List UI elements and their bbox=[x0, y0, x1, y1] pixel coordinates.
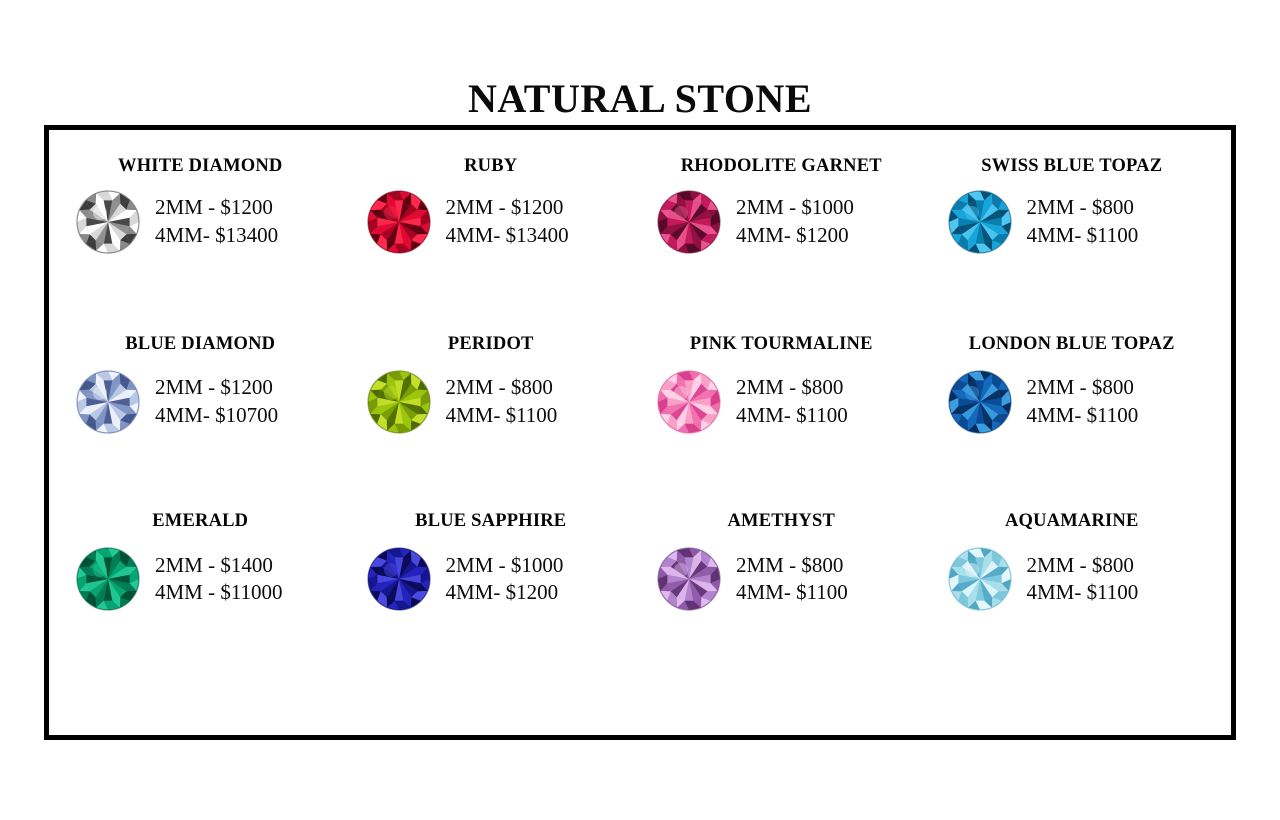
stone-body: 2MM - $8004MM- $1100 bbox=[947, 369, 1222, 435]
stone-price-block: 2MM - $14004MM - $11000 bbox=[155, 552, 283, 607]
stone-card[interactable]: RHODOLITE GARNET2MM - $10004MM- $1200 bbox=[640, 156, 931, 334]
price-4mm: 4MM- $1100 bbox=[1027, 402, 1139, 430]
round-brilliant-gem-icon bbox=[75, 369, 141, 435]
stone-card[interactable]: SWISS BLUE TOPAZ2MM - $8004MM- $1100 bbox=[931, 156, 1222, 334]
stone-name: PERIDOT bbox=[366, 334, 641, 355]
price-2mm: 2MM - $1000 bbox=[736, 194, 854, 222]
stone-price-block: 2MM - $12004MM- $13400 bbox=[446, 194, 569, 249]
price-2mm: 2MM - $1200 bbox=[446, 194, 569, 222]
stone-price-block: 2MM - $8004MM- $1100 bbox=[1027, 194, 1139, 249]
stone-name: BLUE SAPPHIRE bbox=[366, 511, 641, 532]
round-brilliant-gem-icon bbox=[947, 189, 1013, 255]
stone-price-block: 2MM - $8004MM- $1100 bbox=[736, 552, 848, 607]
stone-grid: WHITE DIAMOND2MM - $12004MM- $13400RUBY2… bbox=[49, 130, 1231, 735]
page-title: NATURAL STONE bbox=[0, 75, 1280, 122]
stone-card[interactable]: AQUAMARINE2MM - $8004MM- $1100 bbox=[931, 511, 1222, 689]
price-4mm: 4MM- $1100 bbox=[1027, 579, 1139, 607]
price-2mm: 2MM - $800 bbox=[1027, 374, 1139, 402]
round-brilliant-gem-icon bbox=[656, 189, 722, 255]
stone-card[interactable]: RUBY2MM - $12004MM- $13400 bbox=[350, 156, 641, 334]
round-brilliant-gem-icon bbox=[366, 189, 432, 255]
price-2mm: 2MM - $1400 bbox=[155, 552, 283, 580]
stone-name: EMERALD bbox=[75, 511, 350, 532]
price-2mm: 2MM - $800 bbox=[736, 552, 848, 580]
stone-name: AQUAMARINE bbox=[947, 511, 1222, 532]
price-2mm: 2MM - $1200 bbox=[155, 194, 278, 222]
stone-body: 2MM - $12004MM- $10700 bbox=[75, 369, 350, 435]
stone-name: WHITE DIAMOND bbox=[75, 156, 350, 177]
price-2mm: 2MM - $800 bbox=[446, 374, 558, 402]
price-4mm: 4MM- $10700 bbox=[155, 402, 278, 430]
price-4mm: 4MM- $13400 bbox=[155, 222, 278, 250]
stone-card[interactable]: PINK TOURMALINE2MM - $8004MM- $1100 bbox=[640, 334, 931, 512]
stone-body: 2MM - $8004MM- $1100 bbox=[656, 546, 931, 612]
price-4mm: 4MM- $1100 bbox=[736, 579, 848, 607]
round-brilliant-gem-icon bbox=[656, 369, 722, 435]
round-brilliant-gem-icon bbox=[947, 546, 1013, 612]
stone-body: 2MM - $8004MM- $1100 bbox=[947, 546, 1222, 612]
price-4mm: 4MM- $1200 bbox=[736, 222, 854, 250]
stone-price-block: 2MM - $10004MM- $1200 bbox=[736, 194, 854, 249]
price-4mm: 4MM- $1100 bbox=[736, 402, 848, 430]
stone-body: 2MM - $8004MM- $1100 bbox=[656, 369, 931, 435]
stone-price-block: 2MM - $8004MM- $1100 bbox=[736, 374, 848, 429]
round-brilliant-gem-icon bbox=[366, 369, 432, 435]
stone-card[interactable]: BLUE DIAMOND2MM - $12004MM- $10700 bbox=[59, 334, 350, 512]
price-4mm: 4MM- $1100 bbox=[1027, 222, 1139, 250]
stone-price-block: 2MM - $12004MM- $10700 bbox=[155, 374, 278, 429]
stone-price-block: 2MM - $10004MM- $1200 bbox=[446, 552, 564, 607]
price-2mm: 2MM - $1200 bbox=[155, 374, 278, 402]
stone-card[interactable]: AMETHYST2MM - $8004MM- $1100 bbox=[640, 511, 931, 689]
stone-table-frame: WHITE DIAMOND2MM - $12004MM- $13400RUBY2… bbox=[44, 125, 1236, 740]
round-brilliant-gem-icon bbox=[656, 546, 722, 612]
stone-body: 2MM - $8004MM- $1100 bbox=[366, 369, 641, 435]
price-2mm: 2MM - $1000 bbox=[446, 552, 564, 580]
stone-name: PINK TOURMALINE bbox=[656, 334, 931, 355]
stone-name: RUBY bbox=[366, 156, 641, 177]
stone-price-block: 2MM - $8004MM- $1100 bbox=[1027, 552, 1139, 607]
stone-name: SWISS BLUE TOPAZ bbox=[947, 156, 1222, 177]
stone-name: RHODOLITE GARNET bbox=[656, 156, 931, 177]
stone-name: AMETHYST bbox=[656, 511, 931, 532]
stone-name: BLUE DIAMOND bbox=[75, 334, 350, 355]
price-2mm: 2MM - $800 bbox=[1027, 552, 1139, 580]
price-2mm: 2MM - $800 bbox=[1027, 194, 1139, 222]
round-brilliant-gem-icon bbox=[75, 546, 141, 612]
price-2mm: 2MM - $800 bbox=[736, 374, 848, 402]
stone-name: LONDON BLUE TOPAZ bbox=[947, 334, 1222, 355]
price-4mm: 4MM- $1200 bbox=[446, 579, 564, 607]
round-brilliant-gem-icon bbox=[366, 546, 432, 612]
stone-card[interactable]: LONDON BLUE TOPAZ2MM - $8004MM- $1100 bbox=[931, 334, 1222, 512]
stone-card[interactable]: BLUE SAPPHIRE2MM - $10004MM- $1200 bbox=[350, 511, 641, 689]
round-brilliant-gem-icon bbox=[947, 369, 1013, 435]
stone-body: 2MM - $10004MM- $1200 bbox=[656, 189, 931, 255]
stone-card[interactable]: PERIDOT2MM - $8004MM- $1100 bbox=[350, 334, 641, 512]
price-4mm: 4MM - $11000 bbox=[155, 579, 283, 607]
round-brilliant-gem-icon bbox=[75, 189, 141, 255]
stone-body: 2MM - $8004MM- $1100 bbox=[947, 189, 1222, 255]
stone-body: 2MM - $12004MM- $13400 bbox=[75, 189, 350, 255]
stone-price-block: 2MM - $8004MM- $1100 bbox=[446, 374, 558, 429]
stone-body: 2MM - $12004MM- $13400 bbox=[366, 189, 641, 255]
stone-card[interactable]: WHITE DIAMOND2MM - $12004MM- $13400 bbox=[59, 156, 350, 334]
stone-card[interactable]: EMERALD2MM - $14004MM - $11000 bbox=[59, 511, 350, 689]
stone-body: 2MM - $10004MM- $1200 bbox=[366, 546, 641, 612]
price-4mm: 4MM- $1100 bbox=[446, 402, 558, 430]
stone-price-block: 2MM - $12004MM- $13400 bbox=[155, 194, 278, 249]
price-4mm: 4MM- $13400 bbox=[446, 222, 569, 250]
stone-body: 2MM - $14004MM - $11000 bbox=[75, 546, 350, 612]
stone-price-block: 2MM - $8004MM- $1100 bbox=[1027, 374, 1139, 429]
